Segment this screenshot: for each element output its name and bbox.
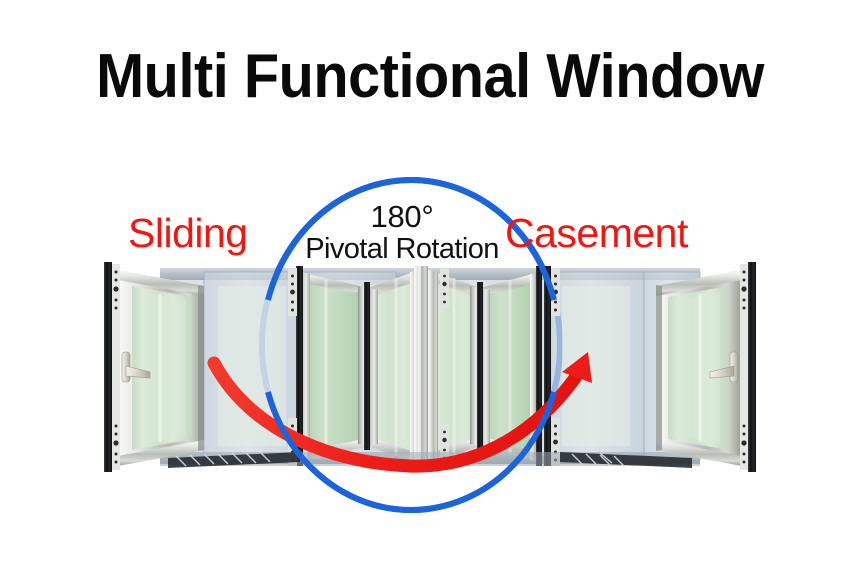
- label-rotation-text: Pivotal Rotation: [296, 233, 508, 265]
- window-illustration-svg: [0, 0, 860, 568]
- label-pivotal-rotation: 180° Pivotal Rotation: [296, 200, 508, 265]
- panel-right-open: [656, 270, 742, 466]
- center-hinge-post: [414, 266, 428, 466]
- frame-post-left: [104, 262, 120, 472]
- panel-folded-2: [368, 270, 420, 464]
- frame-post-right: [740, 262, 756, 472]
- label-rotation-degrees: 180°: [296, 200, 508, 233]
- panel-folded-3: [428, 270, 480, 464]
- panel-folded-1: [300, 272, 368, 462]
- page-root: Multi Functional Window: [0, 0, 860, 568]
- label-sliding: Sliding: [128, 211, 248, 255]
- panel-left-open: [118, 270, 204, 466]
- window-illustration: [0, 0, 860, 568]
- label-casement: Casement: [505, 211, 688, 255]
- panel-sliding-3: [548, 272, 644, 460]
